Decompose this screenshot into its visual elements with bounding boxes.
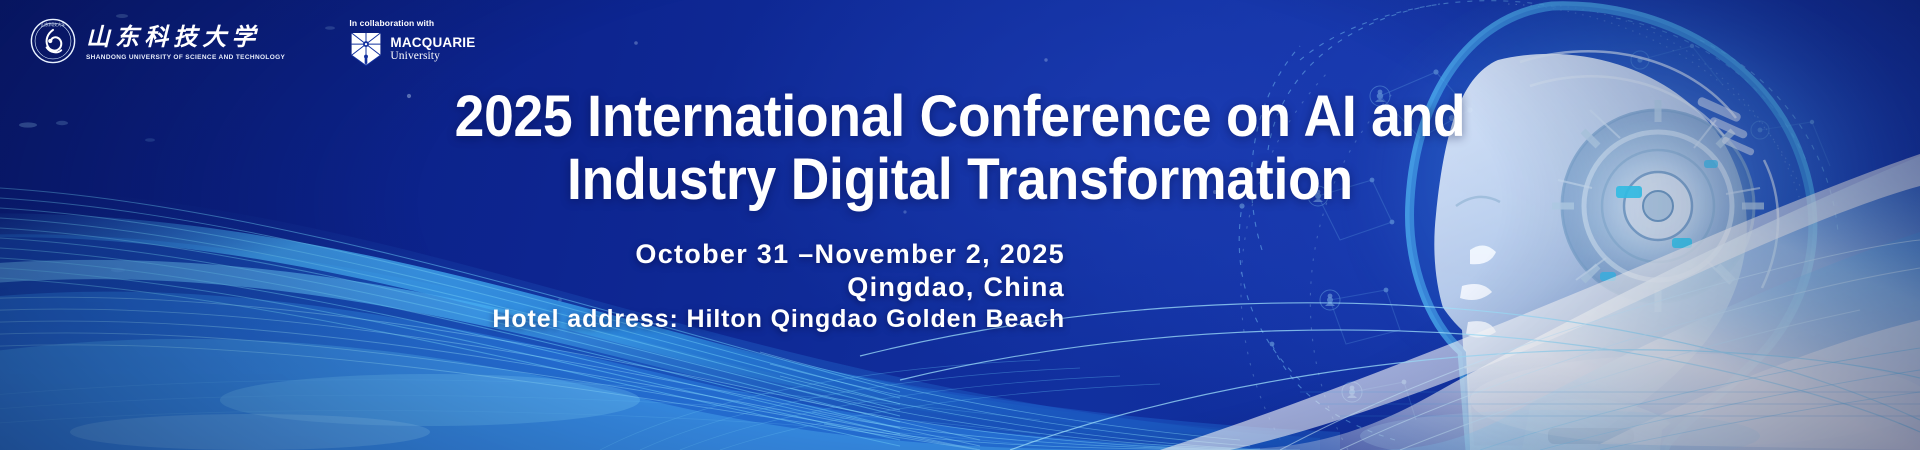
svg-text:山东科技大学: 山东科技大学 (41, 21, 66, 27)
conference-details: October 31 –November 2, 2025 Qingdao, Ch… (492, 238, 1065, 334)
macquarie-logo: MACQUARIE University (349, 31, 475, 67)
collaboration-block: In collaboration with (333, 18, 475, 67)
sdust-logo: 山东科技大学 山东科技大学 SHANDONG UNIVERSITY OF SCI… (30, 18, 315, 64)
conference-dates: October 31 –November 2, 2025 (492, 238, 1065, 271)
conference-location: Qingdao, China (492, 271, 1065, 304)
title-line-2: Industry Digital Transformation (215, 149, 1705, 212)
sdust-name-en: SHANDONG UNIVERSITY OF SCIENCE AND TECHN… (86, 53, 315, 60)
macquarie-name-bottom: University (390, 51, 475, 63)
conference-banner: 山东科技大学 山东科技大学 SHANDONG UNIVERSITY OF SCI… (0, 0, 1920, 450)
sdust-emblem-icon: 山东科技大学 (30, 18, 76, 64)
collaboration-label: In collaboration with (349, 18, 475, 28)
macquarie-lattice-icon (349, 31, 383, 67)
sdust-name-cn: 山东科技大学 (86, 22, 315, 52)
svg-text:山东科技大学: 山东科技大学 (86, 23, 261, 50)
logo-group: 山东科技大学 山东科技大学 SHANDONG UNIVERSITY OF SCI… (30, 18, 475, 67)
title-line-1: 2025 International Conference on AI and (215, 86, 1705, 149)
macquarie-name-top: MACQUARIE (390, 36, 475, 50)
conference-venue: Hotel address: Hilton Qingdao Golden Bea… (492, 304, 1065, 335)
conference-title: 2025 International Conference on AI and … (0, 86, 1920, 211)
